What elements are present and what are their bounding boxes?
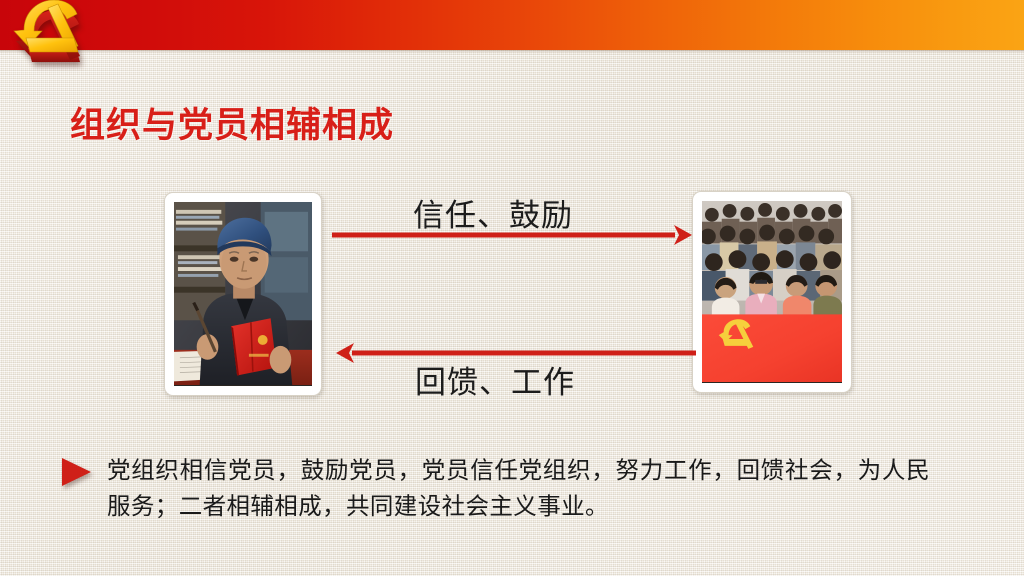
body-text: 党组织相信党员，鼓励党员，党员信任党组织，努力工作，回馈社会，为人民服务；二者相… — [107, 452, 930, 525]
photo-frame-right — [692, 191, 852, 393]
photo-inner-right — [702, 201, 842, 383]
bullet-block: 党组织相信党员，鼓励党员，党员信任党组织，努力工作，回馈社会，为人民服务；二者相… — [60, 452, 930, 525]
photo-frame-left — [164, 192, 322, 396]
header-band-shadow — [0, 50, 1024, 53]
page-title: 组织与党员相辅相成 — [70, 97, 394, 148]
bullet-triangle-icon — [60, 456, 94, 488]
photo-elder-reading — [174, 202, 312, 385]
photo-group-flag — [702, 201, 842, 382]
header-band — [0, 0, 1024, 50]
arrow-label-feedback: 回馈、工作 — [415, 357, 575, 402]
party-emblem-icon — [6, 0, 92, 78]
slide-root: 组织与党员相辅相成 — [0, 0, 1024, 576]
photo-inner-left — [174, 202, 312, 386]
arrow-label-trust: 信任、鼓励 — [413, 190, 573, 235]
